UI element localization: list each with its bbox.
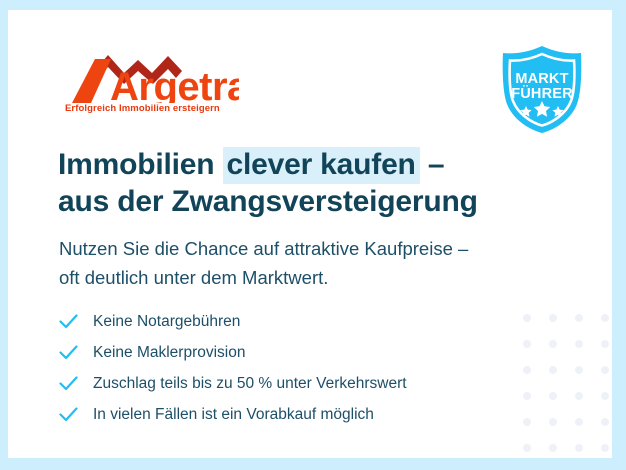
decorative-dot [549,314,557,322]
decorative-dot [575,314,583,322]
logo-tagline: Erfolgreich Immobilien ersteigern [65,103,220,114]
market-leader-badge: MARKT FÜHRER [495,42,589,136]
decorative-dot [601,418,609,426]
benefits-list: Keine NotargebührenKeine Maklerprovision… [59,306,499,430]
decorative-dot [523,444,531,452]
check-icon [59,345,85,360]
dot-grid-decoration [523,314,612,458]
decorative-dot [523,340,531,348]
decorative-dot [601,444,609,452]
subtitle: Nutzen Sie die Chance auf attraktive Kau… [59,234,549,292]
decorative-dot [575,418,583,426]
benefit-label: Keine Notargebühren [85,313,240,331]
argetra-logo-mark: Argetra [64,53,239,103]
subtitle-line-2: oft deutlich unter dem Marktwert. [59,263,549,292]
decorative-dot [549,392,557,400]
benefit-label: In vielen Fällen ist ein Vorabkauf mögli… [85,406,374,424]
decorative-dot [601,366,609,374]
promo-banner: Argetra Erfolgreich Immobilien ersteiger… [0,0,626,470]
decorative-dot [601,340,609,348]
page-title: Immobilien clever kaufen – aus der Zwang… [58,146,528,220]
badge-line-2: FÜHRER [511,85,573,102]
check-icon [59,376,85,391]
banner-card: Argetra Erfolgreich Immobilien ersteiger… [8,10,612,458]
decorative-dot [575,366,583,374]
benefit-item: In vielen Fällen ist ein Vorabkauf mögli… [59,399,499,430]
decorative-dot [549,366,557,374]
decorative-dot [601,392,609,400]
benefit-item: Keine Maklerprovision [59,337,499,368]
decorative-dot [523,366,531,374]
check-icon [59,407,85,422]
badge-line-1: MARKT [515,71,568,87]
svg-text:Argetra: Argetra [110,65,239,103]
benefit-item: Zuschlag teils bis zu 50 % unter Verkehr… [59,368,499,399]
benefit-label: Keine Maklerprovision [85,344,246,362]
decorative-dot [549,340,557,348]
decorative-dot [523,392,531,400]
headline-line-1: Immobilien clever kaufen – [58,146,528,183]
shield-icon: MARKT FÜHRER [495,42,589,136]
check-icon [59,314,85,329]
decorative-dot [523,314,531,322]
subtitle-line-1: Nutzen Sie die Chance auf attraktive Kau… [59,234,549,263]
headline-text-pre: Immobilien [58,148,223,181]
decorative-dot [523,418,531,426]
decorative-dot [601,314,609,322]
decorative-dot [549,444,557,452]
benefit-label: Zuschlag teils bis zu 50 % unter Verkehr… [85,375,407,393]
decorative-dot [575,340,583,348]
decorative-dot [575,444,583,452]
headline-highlight: clever kaufen [223,147,420,184]
decorative-dot [575,392,583,400]
argetra-logo[interactable]: Argetra Erfolgreich Immobilien ersteiger… [64,53,239,119]
headline-text-post: – [420,148,445,181]
headline-line-2: aus der Zwangsversteigerung [58,183,528,220]
decorative-dot [549,418,557,426]
benefit-item: Keine Notargebühren [59,306,499,337]
